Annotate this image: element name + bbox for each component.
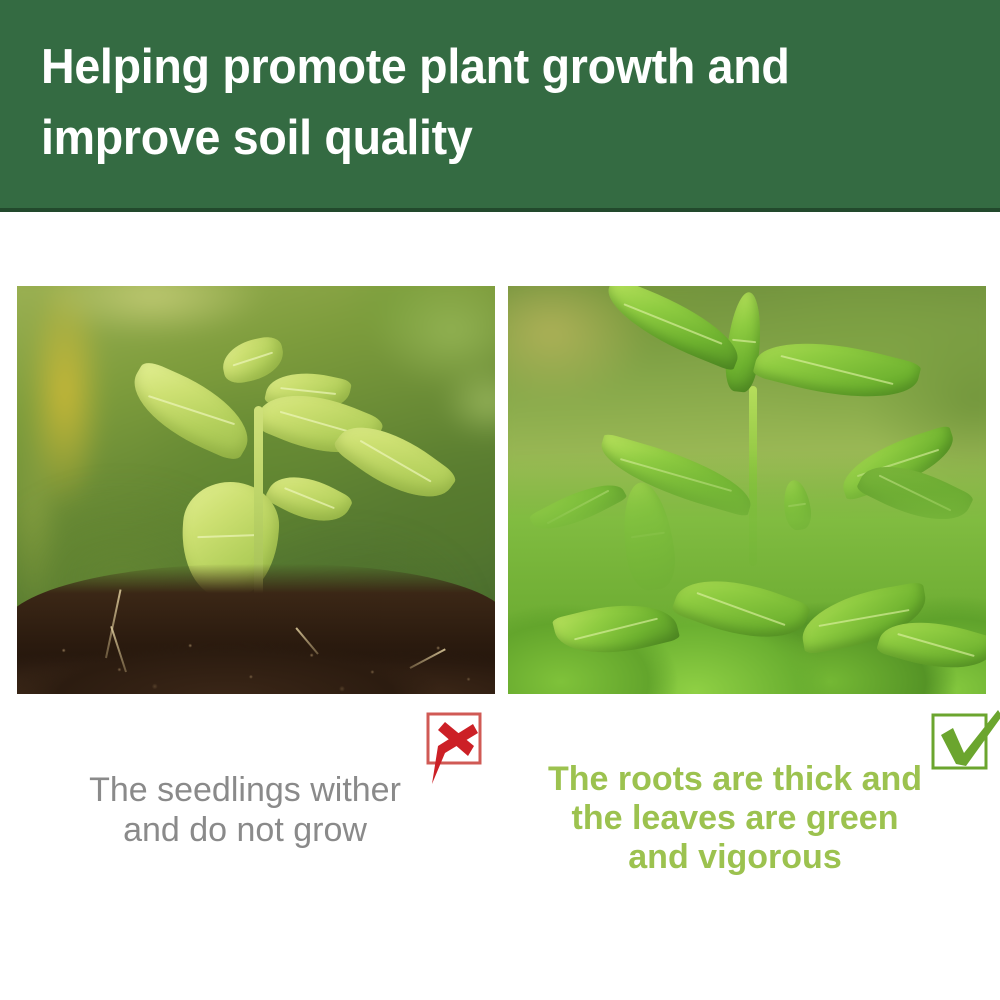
header-banner: Helping promote plant growth and improve… bbox=[0, 0, 1000, 212]
caption-negative: The seedlings wither and do not grow bbox=[20, 770, 470, 850]
infographic-page: Helping promote plant growth and improve… bbox=[0, 0, 1000, 1000]
photo-right-content bbox=[508, 286, 986, 694]
photo-left-content bbox=[17, 286, 495, 694]
caption-positive: The roots are thick and the leaves are g… bbox=[510, 760, 960, 877]
photo-tea-plant-healthy bbox=[508, 286, 986, 694]
soil-mound bbox=[17, 564, 495, 694]
page-title: Helping promote plant growth and improve… bbox=[41, 32, 896, 174]
soil-texture bbox=[17, 576, 495, 694]
photo-seedling-withered bbox=[17, 286, 495, 694]
